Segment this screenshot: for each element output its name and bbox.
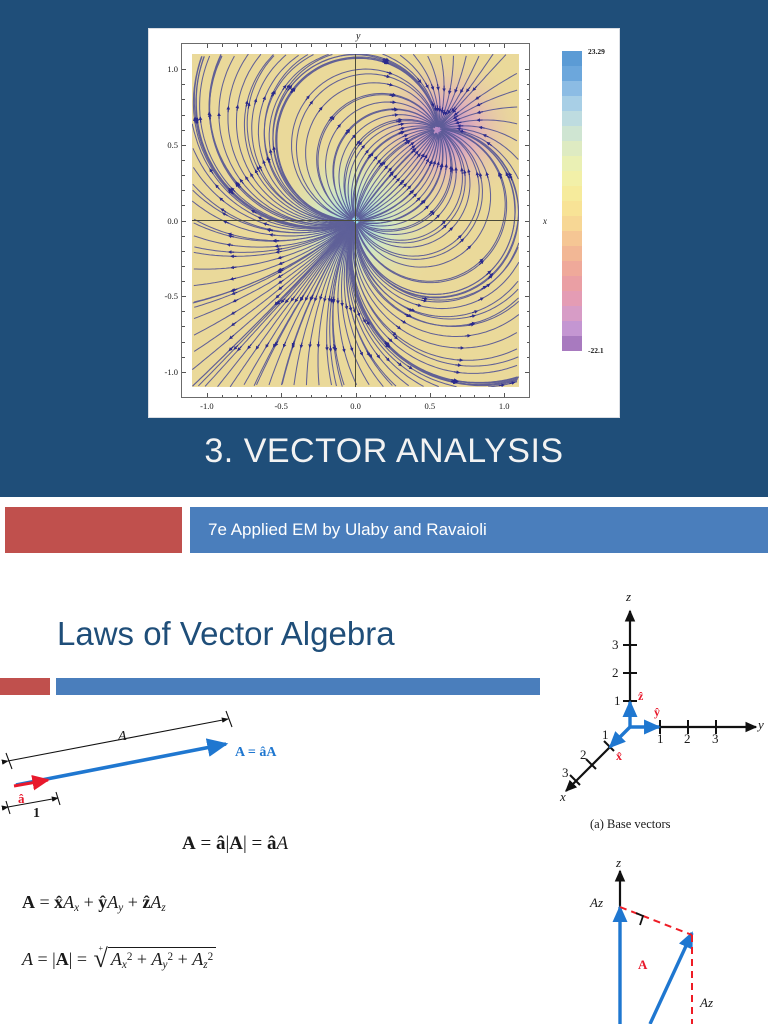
colorbar-segment: [562, 96, 582, 111]
colorbar-segment: [562, 156, 582, 171]
plot-x-minor-tickmark: [474, 395, 475, 398]
plot-y-minor-tickmark: [182, 326, 185, 327]
plot-y-minor-tickmark: [527, 145, 530, 146]
plot-y-minor-tickmark: [527, 69, 530, 70]
plot-y-minor-tickmark: [182, 160, 185, 161]
plot-x-tick-label: 1.0: [499, 401, 510, 411]
plot-y-minor-tickmark: [182, 115, 185, 116]
plot-x-minor-tickmark: [237, 395, 238, 398]
plot-colorbar: 23.29 -22.1: [562, 51, 614, 351]
plot-x-minor-tickmark: [311, 395, 312, 398]
base-z-tick-2: 2: [612, 665, 619, 681]
slide-page: y x: [0, 0, 768, 1024]
base-y-tick-2: 2: [684, 731, 691, 747]
label-vector-equation: A = âA: [235, 745, 276, 761]
plot-y-minor-tickmark: [527, 357, 530, 358]
plot-x-minor-tickmark: [445, 395, 446, 398]
colorbar-segment: [562, 81, 582, 96]
base-unit-y-label: ŷ: [654, 705, 660, 720]
plot-x-minor-tickmark: [430, 395, 431, 398]
label-unit-length: 1: [33, 806, 40, 822]
plot-y-minor-tickmark: [182, 175, 185, 176]
label-magnitude-A: A: [118, 729, 127, 745]
plot-y-minor-tickmark: [182, 311, 185, 312]
plot-y-minor-tickmark: [527, 326, 530, 327]
plot-x-minor-tickmark: [385, 44, 386, 47]
plot-y-tickmark: [525, 221, 529, 222]
plot-x-tick-label: -1.0: [200, 401, 213, 411]
plot-y-tickmark: [182, 296, 186, 297]
origin-axes-lines: [192, 54, 519, 387]
plot-y-tick-label: 0.0: [167, 216, 178, 226]
plot-y-minor-tickmark: [527, 311, 530, 312]
plot-x-tick-label: 0.0: [350, 401, 361, 411]
base-axis-x-label: x: [560, 789, 566, 805]
plot-y-minor-tickmark: [182, 281, 185, 282]
plot-field-area: [192, 54, 519, 387]
plot-x-axis-title: x: [543, 216, 547, 226]
plot-x-minor-tickmark: [489, 44, 490, 47]
plot-x-tick-label: -0.5: [274, 401, 287, 411]
plot-y-tick-label: 1.0: [167, 64, 178, 74]
plot-y-tick-label: -0.5: [165, 291, 178, 301]
vector-field-figure: y x: [148, 28, 620, 418]
plot-y-minor-tickmark: [182, 236, 185, 237]
plot-x-tickmark: [356, 393, 357, 397]
title-slide: y x: [0, 0, 768, 497]
base-z-tick-3: 3: [612, 637, 619, 653]
subtitle-band-row: 7e Applied EM by Ulaby and Ravaioli: [0, 507, 768, 553]
rule-accent-blue: [56, 678, 540, 695]
plot-x-tickmark: [207, 44, 208, 48]
plot-x-minor-tickmark: [341, 395, 342, 398]
plot-x-minor-tickmark: [504, 44, 505, 47]
subtitle-band: 7e Applied EM by Ulaby and Ravaioli: [190, 507, 768, 553]
plot-y-minor-tickmark: [527, 190, 530, 191]
plot-y-tickmark: [182, 221, 186, 222]
figure-base-vectors-caption: (a) Base vectors: [590, 817, 671, 832]
plot-x-minor-tickmark: [296, 395, 297, 398]
equation-3: A = |A| = √+Ax2 + Ay2 + Az2: [22, 947, 216, 971]
plot-x-minor-tickmark: [370, 44, 371, 47]
components-label-az-axis: Az: [590, 895, 603, 911]
base-x-tick-2: 2: [580, 747, 587, 763]
plot-x-minor-tickmark: [266, 395, 267, 398]
plot-x-minor-tickmark: [237, 44, 238, 47]
equation-2: A = x̂Ax + ŷAy + ẑAz: [22, 892, 166, 914]
plot-y-tick-label: 0.5: [167, 140, 178, 150]
plot-y-minor-tickmark: [527, 160, 530, 161]
plot-x-minor-tickmark: [296, 44, 297, 47]
plot-y-minor-tickmark: [182, 190, 185, 191]
colorbar-segment: [562, 111, 582, 126]
components-label-a: A: [638, 957, 647, 973]
base-axis-z-label: z: [626, 589, 631, 605]
equation-1: A = â|A| = âA: [182, 833, 288, 855]
colorbar-segment: [562, 201, 582, 216]
plot-x-tickmark: [356, 44, 357, 48]
figure-unit-vector: A â 1 A = âA: [0, 703, 330, 833]
plot-x-minor-tickmark: [460, 44, 461, 47]
colorbar-segment: [562, 66, 582, 81]
plot-x-minor-tickmark: [445, 44, 446, 47]
base-x-tick-3: 3: [562, 765, 569, 781]
plot-y-minor-tickmark: [182, 84, 185, 85]
components-label-az-dashed: Az: [700, 995, 713, 1011]
unit-vector-svg: [0, 703, 330, 833]
plot-x-minor-tickmark: [341, 44, 342, 47]
plot-y-minor-tickmark: [182, 145, 185, 146]
plot-x-minor-tickmark: [460, 395, 461, 398]
content-heading: Laws of Vector Algebra: [57, 615, 395, 653]
base-axis-y-label: y: [758, 717, 764, 733]
plot-y-minor-tickmark: [527, 205, 530, 206]
base-z-tick-1: 1: [614, 693, 621, 709]
plot-y-tick-label: -1.0: [165, 367, 178, 377]
page-title: 3. VECTOR ANALYSIS: [0, 432, 768, 471]
base-unit-z-label: ẑ: [638, 689, 643, 704]
base-unit-x-label: x̂: [616, 749, 622, 764]
components-svg: [560, 855, 768, 1024]
plot-x-tickmark: [281, 44, 282, 48]
plot-x-minor-tickmark: [415, 395, 416, 398]
plot-y-axis-title: y: [356, 31, 360, 42]
plot-x-minor-tickmark: [385, 395, 386, 398]
plot-x-minor-tickmark: [474, 44, 475, 47]
plot-y-minor-tickmark: [527, 84, 530, 85]
colorbar-min-label: -22.1: [588, 346, 604, 355]
colorbar-segment: [562, 291, 582, 306]
colorbar-segment: [562, 246, 582, 261]
plot-x-tickmark: [281, 393, 282, 397]
plot-y-minor-tickmark: [527, 342, 530, 343]
base-y-tick-3: 3: [712, 731, 719, 747]
base-y-tick-1: 1: [657, 731, 664, 747]
plot-y-minor-tickmark: [182, 357, 185, 358]
plot-y-minor-tickmark: [182, 342, 185, 343]
colorbar-segment: [562, 171, 582, 186]
plot-y-minor-tickmark: [527, 266, 530, 267]
content-slide: Laws of Vector Algebra: [0, 575, 768, 1024]
plot-x-minor-tickmark: [504, 395, 505, 398]
label-unit-vector-a: â: [18, 791, 25, 807]
plot-y-minor-tickmark: [182, 99, 185, 100]
plot-y-minor-tickmark: [527, 175, 530, 176]
plot-y-minor-tickmark: [527, 281, 530, 282]
plot-y-minor-tickmark: [527, 115, 530, 116]
plot-y-minor-tickmark: [527, 99, 530, 100]
colorbar-segment: [562, 306, 582, 321]
plot-x-minor-tickmark: [311, 44, 312, 47]
colorbar-segment: [562, 141, 582, 156]
figure-base-vectors: z y x 3 2 1 1 2 3 1 2 3 ẑ ŷ x̂: [560, 585, 768, 835]
plot-y-minor-tickmark: [182, 205, 185, 206]
plot-x-minor-tickmark: [326, 395, 327, 398]
colorbar-segment: [562, 216, 582, 231]
plot-x-minor-tickmark: [400, 395, 401, 398]
plot-x-minor-tickmark: [251, 44, 252, 47]
colorbar-segment: [562, 231, 582, 246]
figure-vector-components: z Az A Az: [560, 855, 768, 1024]
plot-y-minor-tickmark: [182, 130, 185, 131]
colorbar-segment: [562, 261, 582, 276]
plot-x-minor-tickmark: [222, 395, 223, 398]
components-axis-z-label: z: [616, 855, 621, 871]
colorbar-segment: [562, 126, 582, 141]
plot-y-minor-tickmark: [527, 251, 530, 252]
colorbar-segment: [562, 321, 582, 336]
plot-y-minor-tickmark: [182, 69, 185, 70]
colorbar-segment: [562, 276, 582, 291]
plot-x-minor-tickmark: [430, 44, 431, 47]
plot-x-minor-tickmark: [326, 44, 327, 47]
plot-x-minor-tickmark: [251, 395, 252, 398]
colorbar-segment: [562, 186, 582, 201]
plot-y-minor-tickmark: [182, 251, 185, 252]
plot-y-minor-tickmark: [527, 236, 530, 237]
plot-y-minor-tickmark: [182, 266, 185, 267]
plot-x-minor-tickmark: [266, 44, 267, 47]
plot-x-minor-tickmark: [489, 395, 490, 398]
plot-y-tickmark: [182, 372, 186, 373]
plot-x-minor-tickmark: [400, 44, 401, 47]
colorbar-segment: [562, 336, 582, 351]
rule-accent-red: [0, 678, 50, 695]
plot-y-tickmark: [525, 296, 529, 297]
plot-y-minor-tickmark: [527, 130, 530, 131]
plot-x-minor-tickmark: [415, 44, 416, 47]
plot-axes-box: 1.00.50.0-0.5-1.0 -1.0-0.50.00.51.0: [181, 43, 530, 398]
colorbar-segment: [562, 51, 582, 66]
plot-x-minor-tickmark: [370, 395, 371, 398]
plot-y-tickmark: [525, 372, 529, 373]
plot-x-minor-tickmark: [222, 44, 223, 47]
colorbar-gradient: [562, 51, 582, 351]
plot-x-tick-label: 0.5: [425, 401, 436, 411]
plot-x-tickmark: [207, 393, 208, 397]
base-vectors-svg: [560, 585, 768, 835]
base-x-tick-1: 1: [602, 727, 609, 743]
accent-block-red: [5, 507, 182, 553]
colorbar-max-label: 23.29: [588, 47, 605, 56]
